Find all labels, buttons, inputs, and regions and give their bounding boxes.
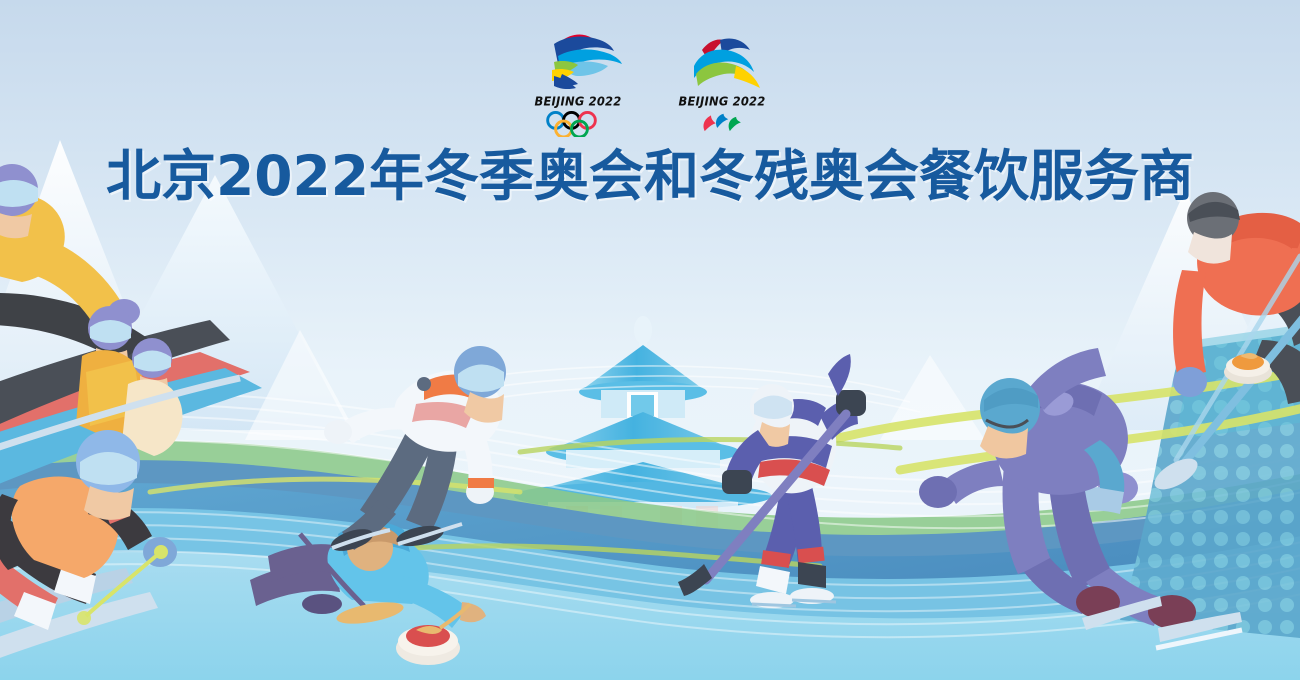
athlete-speed-skater-white [324,346,506,555]
emblem-row: BEIJING 2022 BEIJING 2022 [0,30,1300,137]
paralympic-emblem: BEIJING 2022 [674,30,770,136]
olympic-emblem-mark [532,30,624,92]
page-title: 北京2022年冬季奥会和冬残奥会餐饮服务商 [0,143,1300,209]
athlete-curler-delivery [250,522,486,665]
paralympic-agitos-icon [700,112,744,136]
athlete-ice-hockey [678,354,866,608]
paralympic-emblem-wordmark: BEIJING 2022 [679,93,766,108]
olympic-emblem-wordmark: BEIJING 2022 [535,93,622,108]
olympic-emblem: BEIJING 2022 [530,30,626,137]
paralympic-emblem-mark [676,30,768,92]
olympic-rings-icon [542,111,614,137]
beijing-2022-catering-partner-banner: BEIJING 2022 BEIJING 2022 [0,0,1300,680]
